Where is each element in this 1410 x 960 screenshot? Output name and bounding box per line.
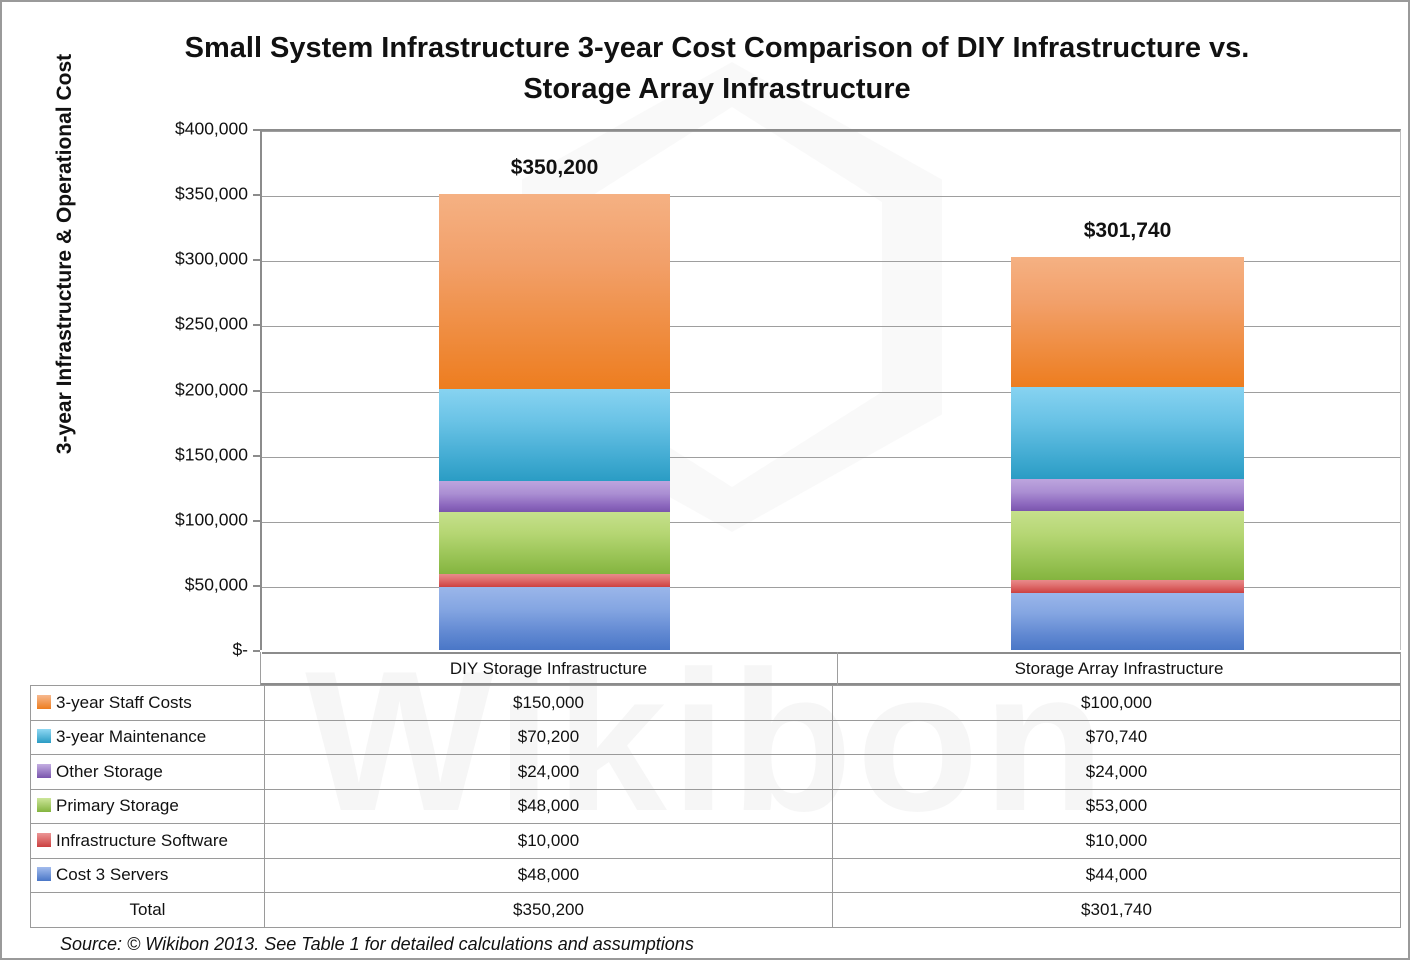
- legend-label: 3-year Maintenance: [56, 727, 206, 747]
- legend-label: Primary Storage: [56, 796, 179, 816]
- legend-label: 3-year Staff Costs: [56, 693, 192, 713]
- legend-label: Cost 3 Servers: [56, 865, 168, 885]
- table-cell-value: $24,000: [833, 755, 1401, 790]
- stacked-bar[interactable]: [439, 129, 670, 650]
- y-axis-tick: [253, 650, 260, 652]
- total-value: $301,740: [833, 893, 1401, 928]
- table-cell-value: $44,000: [833, 858, 1401, 893]
- table-row: Infrastructure Software$10,000$10,000: [31, 824, 1401, 859]
- table-row: Other Storage$24,000$24,000: [31, 755, 1401, 790]
- table-cell-value: $48,000: [265, 789, 833, 824]
- table-cell-value: $24,000: [265, 755, 833, 790]
- table-row: 3-year Maintenance$70,200$70,740: [31, 720, 1401, 755]
- category-divider: [260, 652, 261, 685]
- legend-entry[interactable]: Cost 3 Servers: [31, 858, 265, 893]
- bar-segment[interactable]: [439, 587, 670, 650]
- total-label: Total: [31, 893, 265, 928]
- y-axis-tick: [253, 129, 260, 131]
- legend-swatch-icon: [37, 729, 51, 743]
- legend-swatch-icon: [37, 833, 51, 847]
- y-axis-tick: [253, 324, 260, 326]
- y-axis-title: 3-year Infrastructure & Operational Cost: [53, 44, 77, 464]
- y-axis-tick-label: $350,000: [148, 184, 248, 205]
- table-cell-value: $10,000: [265, 824, 833, 859]
- y-axis-tick-label: $-: [148, 640, 248, 661]
- bar-segment[interactable]: [439, 574, 670, 587]
- table-row: 3-year Staff Costs$150,000$100,000: [31, 686, 1401, 721]
- y-axis-tick-label: $300,000: [148, 249, 248, 270]
- category-divider: [837, 652, 838, 685]
- bar-segment[interactable]: [439, 481, 670, 512]
- x-axis-category-label: DIY Storage Infrastructure: [260, 652, 837, 685]
- table-cell-value: $150,000: [265, 686, 833, 721]
- plot-area: $350,200$301,740: [260, 129, 1401, 650]
- bar-total-label: $301,740: [978, 219, 1278, 243]
- bar-segment[interactable]: [439, 512, 670, 575]
- bar-segment[interactable]: [1011, 593, 1244, 650]
- bar-segment[interactable]: [1011, 387, 1244, 479]
- table-row-total: Total$350,200$301,740: [31, 893, 1401, 928]
- y-axis-tick-label: $150,000: [148, 444, 248, 465]
- legend-swatch-icon: [37, 695, 51, 709]
- legend-entry[interactable]: Primary Storage: [31, 789, 265, 824]
- legend-swatch-icon: [37, 867, 51, 881]
- y-axis-tick-label: $250,000: [148, 314, 248, 335]
- chart-title: Small System Infrastructure 3-year Cost …: [182, 28, 1252, 110]
- bar-segment[interactable]: [1011, 479, 1244, 510]
- legend-entry[interactable]: 3-year Staff Costs: [31, 686, 265, 721]
- legend-entry[interactable]: 3-year Maintenance: [31, 720, 265, 755]
- table-row: Primary Storage$48,000$53,000: [31, 789, 1401, 824]
- stacked-bar[interactable]: [1011, 129, 1244, 650]
- bar-total-label: $350,200: [405, 156, 705, 180]
- y-axis-tick-label: $50,000: [148, 574, 248, 595]
- category-divider: [1400, 652, 1401, 685]
- total-value: $350,200: [265, 893, 833, 928]
- legend-entry[interactable]: Other Storage: [31, 755, 265, 790]
- y-axis-tick: [253, 194, 260, 196]
- bar-segment[interactable]: [1011, 580, 1244, 593]
- data-table: 3-year Staff Costs$150,000$100,0003-year…: [30, 685, 1401, 928]
- table-cell-value: $70,740: [833, 720, 1401, 755]
- y-axis-tick: [253, 390, 260, 392]
- y-axis-tick: [253, 259, 260, 261]
- y-axis-tick: [253, 585, 260, 587]
- x-axis-category-row: DIY Storage InfrastructureStorage Array …: [260, 652, 1401, 685]
- table-cell-value: $53,000: [833, 789, 1401, 824]
- legend-swatch-icon: [37, 798, 51, 812]
- bar-segment[interactable]: [1011, 511, 1244, 580]
- table-cell-value: $70,200: [265, 720, 833, 755]
- legend-entry[interactable]: Infrastructure Software: [31, 824, 265, 859]
- y-axis-tick: [253, 520, 260, 522]
- source-note: Source: © Wikibon 2013. See Table 1 for …: [60, 934, 694, 955]
- chart-figure: Wikibon Small System Infrastructure 3-ye…: [0, 0, 1410, 960]
- y-axis-tick-label: $100,000: [148, 509, 248, 530]
- y-axis-tick-label: $400,000: [148, 119, 248, 140]
- bar-segment[interactable]: [439, 194, 670, 389]
- legend-label: Other Storage: [56, 762, 163, 782]
- bar-segment[interactable]: [439, 389, 670, 480]
- y-axis-tick-label: $200,000: [148, 379, 248, 400]
- x-axis-category-label: Storage Array Infrastructure: [837, 652, 1401, 685]
- legend-label: Infrastructure Software: [56, 831, 228, 851]
- table-cell-value: $10,000: [833, 824, 1401, 859]
- table-cell-value: $48,000: [265, 858, 833, 893]
- table-cell-value: $100,000: [833, 686, 1401, 721]
- table-row: Cost 3 Servers$48,000$44,000: [31, 858, 1401, 893]
- bar-segment[interactable]: [1011, 257, 1244, 387]
- y-axis-tick: [253, 455, 260, 457]
- legend-swatch-icon: [37, 764, 51, 778]
